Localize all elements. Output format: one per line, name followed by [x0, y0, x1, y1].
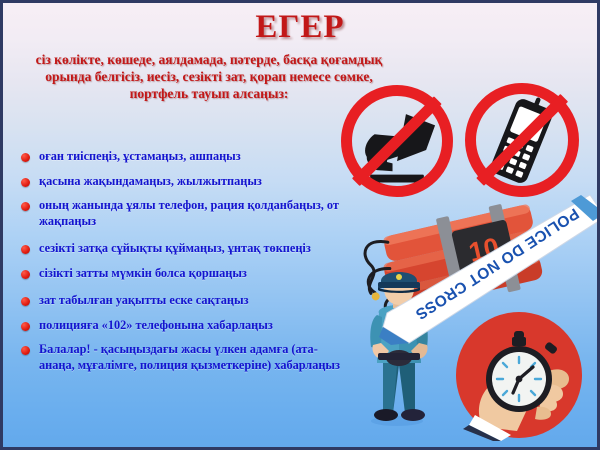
bullet-icon: [21, 153, 30, 162]
list-item: полицияға «102» телефонына хабарлаңыз: [21, 318, 351, 334]
list-item: зат табылған уақытты еске сақтаңыз: [21, 293, 351, 309]
no-phone-icon: [465, 83, 579, 197]
list-item-label: сізікті затты мүмкін болса қоршаңыз: [39, 266, 247, 282]
bullet-icon: [21, 202, 30, 211]
police-tape-text: POLICE DO NOT CROSS: [412, 204, 582, 322]
no-touch-icon: [341, 85, 453, 197]
safety-poster: ЕГЕР сіз көлікте, көшеде, аялдамада, пәт…: [0, 0, 600, 450]
list-item-label: оның жанында ұялы телефон, рация қолданб…: [39, 198, 351, 229]
list-item-label: қасына жақындамаңыз, жылжытпаңыз: [39, 174, 262, 190]
list-item-label: Балалар! - қасыңыздағы жасы үлкен адамға…: [39, 342, 351, 373]
bullet-icon: [21, 245, 30, 254]
list-item: сізікті затты мүмкін болса қоршаңыз: [21, 266, 351, 282]
bullet-icon: [21, 346, 30, 355]
list-item-label: полицияға «102» телефонына хабарлаңыз: [39, 318, 273, 334]
list-item: оның жанында ұялы телефон, рация қолданб…: [21, 198, 351, 229]
instruction-list: оған тиіспеңіз, ұстамаңыз, ашпаңыз қасын…: [21, 149, 351, 382]
stopwatch-badge-icon: [453, 309, 585, 441]
bullet-icon: [21, 297, 30, 306]
list-item: оған тиіспеңіз, ұстамаңыз, ашпаңыз: [21, 149, 351, 165]
bullet-icon: [21, 270, 30, 279]
list-item: Балалар! - қасыңыздағы жасы үлкен адамға…: [21, 342, 351, 373]
bullet-icon: [21, 178, 30, 187]
list-item-label: сезікті затқа сұйықты құймаңыз, ұнтақ тө…: [39, 241, 311, 257]
list-item-label: оған тиіспеңіз, ұстамаңыз, ашпаңыз: [39, 149, 241, 165]
bullet-icon: [21, 322, 30, 331]
list-item: сезікті затқа сұйықты құймаңыз, ұнтақ тө…: [21, 241, 351, 257]
list-item-label: зат табылған уақытты еске сақтаңыз: [39, 293, 249, 309]
svg-text:POLICE DO NOT CROSS: POLICE DO NOT CROSS: [412, 204, 582, 322]
list-item: қасына жақындамаңыз, жылжытпаңыз: [21, 174, 351, 190]
illustration-area: 10: [333, 3, 600, 447]
